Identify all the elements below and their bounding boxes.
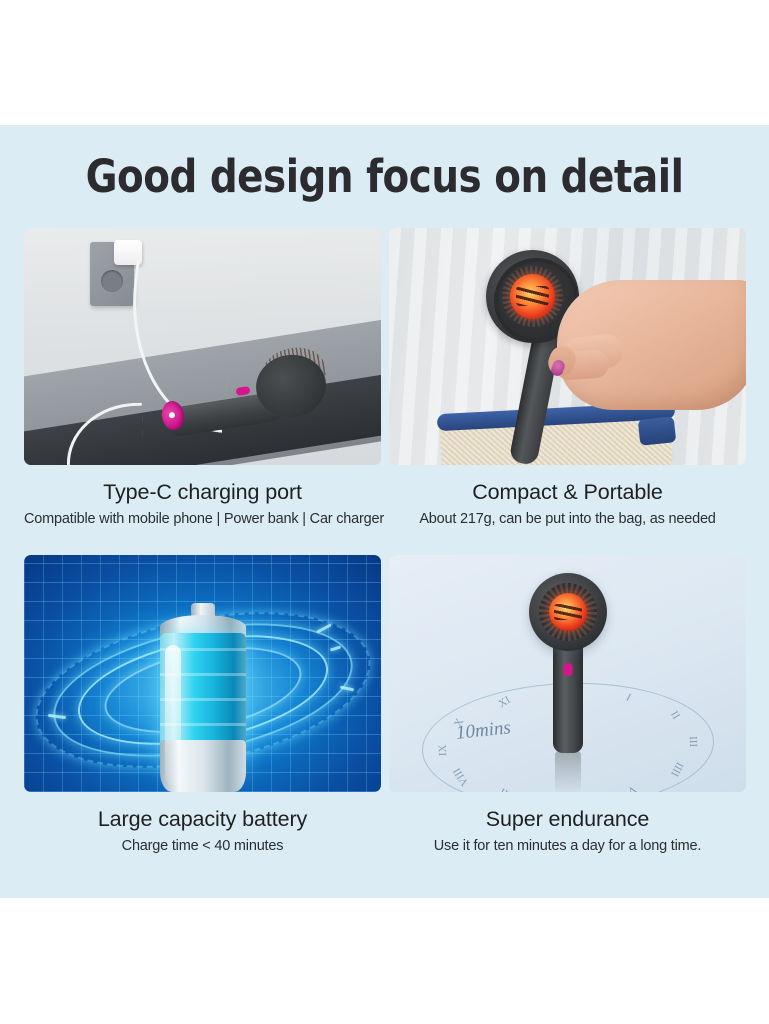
feature-title: Type-C charging port — [24, 479, 381, 505]
clock-numeral: III — [686, 736, 698, 747]
clock-numeral: IIII — [668, 760, 685, 779]
clock-numeral: IX — [437, 744, 449, 756]
feature-subtitle: About 217g, can be put into the bag, as … — [389, 505, 746, 530]
feature-image-compact-and-portable — [389, 228, 746, 465]
feature-title: Large capacity battery — [24, 806, 381, 832]
page-title: Good design focus on detail — [15, 152, 753, 202]
clock-numeral: II — [667, 709, 681, 722]
feature-card-large-capacity-battery: Large capacity battery Charge time < 40 … — [24, 555, 381, 857]
device-reflection — [555, 751, 581, 792]
feature-card-type-c-charging-port: Type-C charging port Compatible with mob… — [24, 228, 381, 530]
product-infographic: Good design focus on detail — [0, 0, 769, 1024]
feature-subtitle: Use it for ten minutes a day for a long … — [389, 832, 746, 857]
feature-image-type-c-charging-port — [24, 228, 381, 465]
feature-card-compact-and-portable: Compact & Portable About 217g, can be pu… — [389, 228, 746, 530]
battery-highlight — [165, 645, 181, 785]
brush-head — [529, 573, 607, 651]
device-handle — [553, 641, 583, 753]
clock-numeral: V — [625, 783, 638, 792]
feature-caption: Super endurance Use it for ten minutes a… — [389, 792, 746, 857]
handbag-zipper — [638, 416, 677, 446]
feature-caption: Large capacity battery Charge time < 40 … — [24, 792, 381, 857]
feature-title: Super endurance — [389, 806, 746, 832]
feature-subtitle: Compatible with mobile phone | Power ban… — [24, 505, 381, 530]
socket-slot — [107, 275, 110, 283]
clock-numeral: XI — [495, 694, 511, 710]
feature-image-large-capacity-battery — [24, 555, 381, 792]
clock-numeral: I — [624, 692, 633, 704]
feature-title: Compact & Portable — [389, 479, 746, 505]
feature-subtitle: Charge time < 40 minutes — [24, 832, 381, 857]
heating-element-glow — [510, 274, 555, 319]
heating-element-glow — [549, 593, 587, 631]
feature-caption: Compact & Portable About 217g, can be pu… — [389, 465, 746, 530]
clock-numeral: VIII — [450, 765, 470, 787]
socket-slot — [112, 283, 119, 291]
power-button — [563, 663, 572, 676]
feature-image-super-endurance: XIIIIIIIIIIIIVVIVIIVIIIIXXXI 10mins — [389, 555, 746, 792]
feature-grid: Type-C charging port Compatible with mob… — [24, 228, 746, 878]
feature-caption: Type-C charging port Compatible with mob… — [24, 465, 381, 530]
clock-numeral: VII — [497, 785, 516, 792]
feature-card-super-endurance: XIIIIIIIIIIIIVVIVIIVIIIIXXXI 10mins Supe… — [389, 555, 746, 857]
